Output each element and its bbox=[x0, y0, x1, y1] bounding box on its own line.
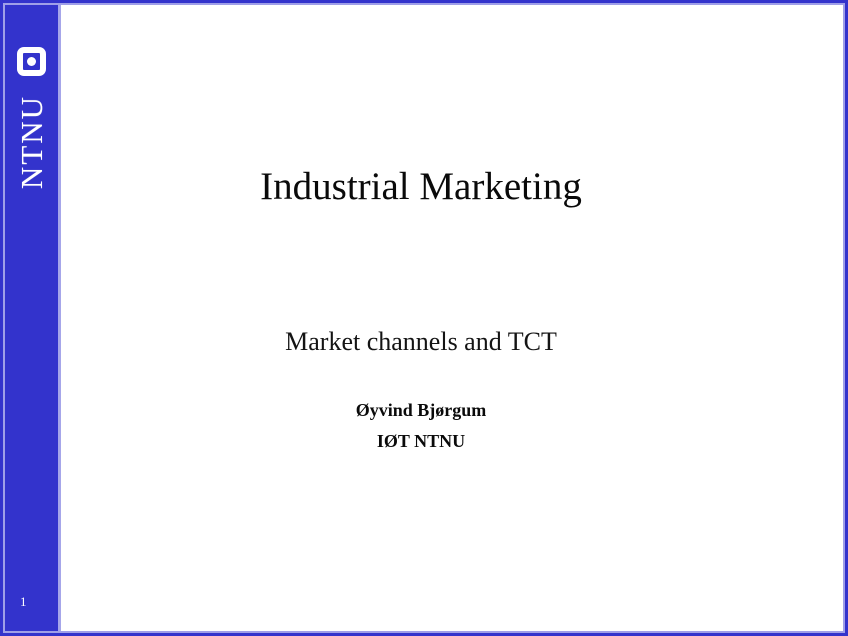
sidebar-divider bbox=[58, 0, 61, 636]
slide-title: Industrial Marketing bbox=[61, 163, 781, 211]
slide-page-number: 1 bbox=[20, 594, 27, 610]
ntnu-logo-dot bbox=[27, 57, 36, 66]
slide-author: Øyvind Bjørgum bbox=[61, 398, 781, 422]
presentation-slide: NTNU 1 Industrial Marketing Market chann… bbox=[0, 0, 848, 636]
slide-affiliation: IØT NTNU bbox=[61, 429, 781, 453]
slide-subtitle: Market channels and TCT bbox=[61, 325, 781, 359]
ntnu-wordmark: NTNU bbox=[15, 72, 49, 212]
ntnu-logo-inner-square bbox=[23, 53, 40, 70]
slide-content: Industrial Marketing Market channels and… bbox=[61, 5, 843, 631]
